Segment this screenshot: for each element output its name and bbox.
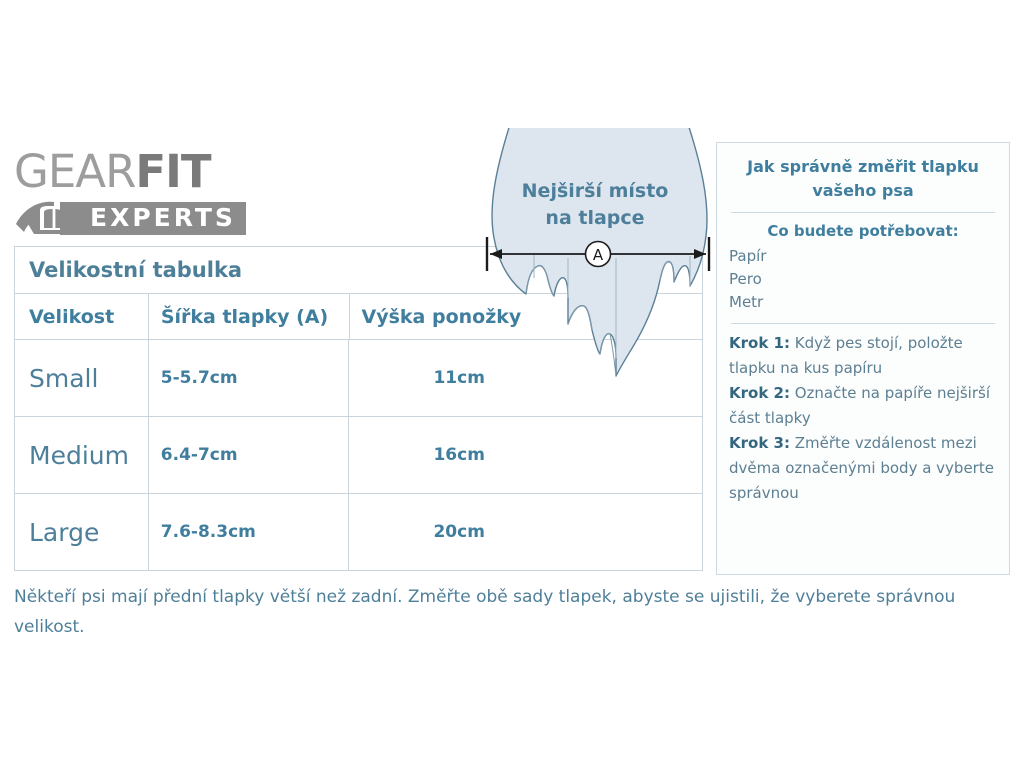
footnote-text: Někteří psi mají přední tlapky větší než… (14, 582, 989, 642)
logo-fit-text: FIT (135, 145, 210, 198)
table-row: Large 7.6-8.3cm 20cm (15, 493, 702, 570)
list-item: Krok 3: Změřte vzdálenost mezi dvěma ozn… (729, 431, 997, 506)
panel-title: Jak správně změřit tlapku vašeho psa (729, 155, 997, 203)
measure-marker-a: A (593, 246, 604, 264)
step-label: Krok 1: (729, 334, 790, 352)
divider (731, 212, 995, 213)
cell-sock-height: 20cm (348, 494, 702, 570)
cell-paw-width: 5-5.7cm (148, 340, 349, 416)
step-label: Krok 2: (729, 384, 790, 402)
logo-experts-text: EXPERTS (60, 202, 246, 235)
list-item: Krok 1: Když pes stojí, položte tlapku n… (729, 331, 997, 381)
logo-wordmark: GEARFIT (14, 146, 211, 198)
cell-size: Medium (15, 417, 148, 493)
divider (731, 323, 995, 324)
cell-sock-height: 16cm (348, 417, 702, 493)
table-row: Medium 6.4-7cm 16cm (15, 416, 702, 493)
logo-gear-text: GEAR (14, 145, 135, 198)
step-label: Krok 3: (729, 434, 790, 452)
column-header-paw-width: Šířka tlapky (A) (148, 294, 349, 339)
cell-size: Small (15, 340, 148, 416)
list-item: Krok 2: Označte na papíře nejširší část … (729, 381, 997, 431)
column-header-size: Velikost (15, 294, 148, 339)
list-item: Metr (729, 291, 997, 314)
cell-size: Large (15, 494, 148, 570)
how-to-measure-panel: Jak správně změřit tlapku vašeho psa Co … (716, 142, 1010, 575)
paw-label-line-2: na tlapce (495, 205, 695, 232)
paw-label-line-1: Nejširší místo (495, 178, 695, 205)
list-item: Pero (729, 268, 997, 291)
panel-subtitle: Co budete potřebovat: (729, 220, 997, 242)
brand-logo: GEARFIT EXPERTS (14, 146, 254, 238)
page-title: Velikostní tabulka (15, 247, 242, 293)
cell-paw-width: 6.4-7cm (148, 417, 349, 493)
paw-widest-label: Nejširší místo na tlapce (495, 178, 695, 232)
double-headed-arrow-icon: A (478, 236, 718, 272)
cell-paw-width: 7.6-8.3cm (148, 494, 349, 570)
size-chart-infographic: GEARFIT EXPERTS Velikostní tabulka Velik… (0, 0, 1024, 768)
list-item: Papír (729, 245, 997, 268)
